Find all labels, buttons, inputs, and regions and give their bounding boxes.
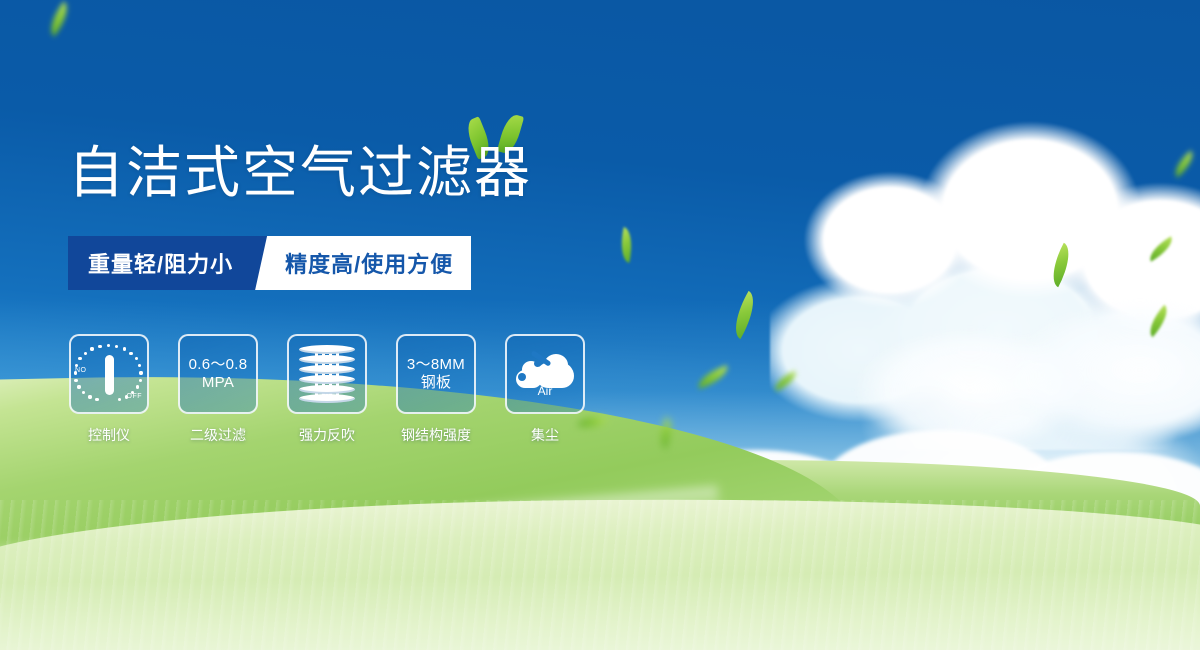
steel-thickness: 3～8MM bbox=[407, 356, 465, 374]
subtitle-left-text: 重量轻/阻力小 bbox=[68, 236, 255, 290]
filter-cartridge-icon bbox=[287, 334, 367, 414]
cloud-air-icon: Air bbox=[505, 334, 585, 414]
feature-item-backblow[interactable]: 强力反吹 bbox=[286, 334, 368, 445]
gauge-graphic: NO OFF bbox=[76, 343, 142, 405]
hero-banner: 自洁式空气过滤器 重量轻/阻力小 精度高/使用方便 bbox=[0, 0, 1200, 650]
feature-label: 二级过滤 bbox=[190, 425, 246, 445]
feature-item-filtration[interactable]: 0.6～0.8 MPA 二级过滤 bbox=[177, 334, 259, 445]
grass-texture bbox=[0, 500, 1200, 650]
steel-material: 钢板 bbox=[421, 374, 452, 392]
feature-label: 钢结构强度 bbox=[401, 425, 471, 445]
gauge-dial-icon: NO OFF bbox=[69, 334, 149, 414]
feature-label: 强力反吹 bbox=[299, 425, 355, 445]
air-label: Air bbox=[514, 384, 576, 398]
feature-list: NO OFF 控制仪 0.6～0.8 MPA 二级过滤 bbox=[68, 334, 586, 445]
floating-leaf-icon bbox=[43, 1, 75, 36]
feature-item-control[interactable]: NO OFF 控制仪 bbox=[68, 334, 150, 445]
feature-item-dust[interactable]: Air 集尘 bbox=[504, 334, 586, 445]
gauge-off-label: OFF bbox=[127, 393, 143, 400]
page-title: 自洁式空气过滤器 bbox=[68, 145, 532, 201]
feature-item-steel[interactable]: 3～8MM 钢板 钢结构强度 bbox=[395, 334, 477, 445]
pressure-unit: MPA bbox=[202, 374, 234, 392]
gauge-no-label: NO bbox=[75, 367, 87, 374]
steel-plate-text-icon: 3～8MM 钢板 bbox=[396, 334, 476, 414]
pressure-value: 0.6～0.8 bbox=[189, 356, 248, 374]
subtitle-right-text: 精度高/使用方便 bbox=[281, 236, 471, 290]
subtitle-banner: 重量轻/阻力小 精度高/使用方便 bbox=[68, 236, 471, 290]
floating-leaf-icon bbox=[617, 227, 637, 263]
feature-label: 控制仪 bbox=[88, 425, 130, 445]
cartridge-graphic bbox=[299, 345, 355, 403]
subtitle-divider bbox=[255, 236, 281, 290]
cloud-graphic: Air bbox=[514, 352, 576, 396]
pressure-text-icon: 0.6～0.8 MPA bbox=[178, 334, 258, 414]
feature-label: 集尘 bbox=[531, 425, 559, 445]
